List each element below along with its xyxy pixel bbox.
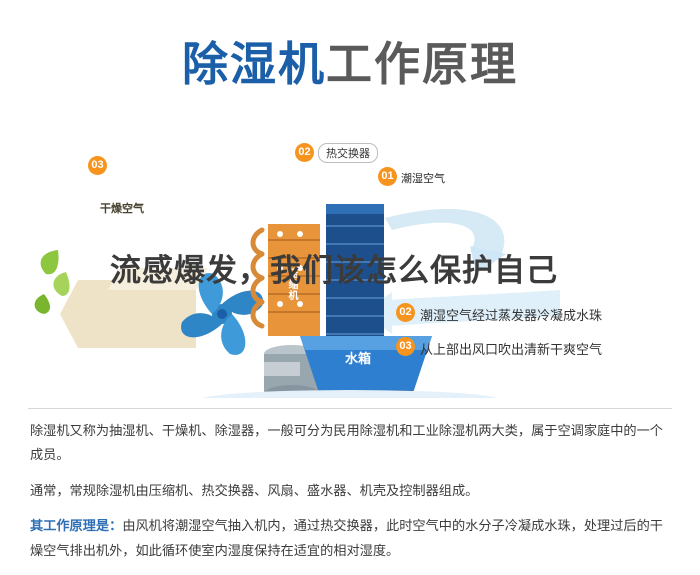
badge-step-03: 03 bbox=[396, 337, 415, 356]
evaporator-top bbox=[326, 204, 384, 214]
badge-step-02: 02 bbox=[396, 303, 415, 322]
label-heat-exchanger: 热交换器 bbox=[318, 143, 378, 163]
section-divider bbox=[28, 408, 672, 409]
body-paragraph-2: 通常，常规除湿机由压缩机、热交换器、风扇、盛水器、机壳及控制器组成。 bbox=[30, 480, 672, 504]
step-text-02: 潮湿空气经过蒸发器冷凝成水珠 bbox=[420, 305, 602, 324]
badge-01: 01 bbox=[378, 167, 397, 186]
tank-support bbox=[264, 362, 300, 376]
badge-02: 02 bbox=[295, 143, 314, 162]
leaf-icon-1 bbox=[41, 250, 59, 274]
label-humid-air: 潮湿空气 bbox=[401, 170, 445, 186]
page-title: 除湿机工作原理 bbox=[0, 28, 700, 108]
step-text-03: 从上部出风口吹出清新干爽空气 bbox=[420, 339, 602, 358]
body-paragraph-3-text: 由风机将潮湿空气抽入机内，通过热交换器，此时空气中的水分子冷凝成水珠，处理过后的… bbox=[30, 519, 663, 558]
body-paragraph-3: 其工作原理是：由风机将潮湿空气抽入机内，通过热交换器，此时空气中的水分子冷凝成水… bbox=[30, 515, 672, 564]
badge-03: 03 bbox=[88, 156, 107, 175]
ground-shadow bbox=[200, 390, 500, 398]
page-title-primary: 除湿机 bbox=[182, 37, 326, 91]
poster-root: 除湿机工作原理 bbox=[0, 0, 700, 566]
leaf-icon-2 bbox=[53, 272, 69, 296]
leaf-icon-3 bbox=[35, 294, 50, 314]
body-text: 除湿机又称为抽湿机、干燥机、除湿器，一般可分为民用除湿机和工业除湿机两大类，属于… bbox=[30, 420, 672, 575]
overlay-headline: 流感爆发，我们该怎么保护自己 bbox=[110, 252, 590, 292]
body-paragraph-3-lead: 其工作原理是： bbox=[30, 519, 122, 534]
label-dry-air: 干燥空气 bbox=[100, 200, 144, 216]
body-paragraph-1: 除湿机又称为抽湿机、干燥机、除湿器，一般可分为民用除湿机和工业除湿机两大类，属于… bbox=[30, 420, 672, 469]
page-title-secondary: 工作原理 bbox=[326, 37, 518, 91]
label-water-tank: 水箱 bbox=[345, 348, 371, 367]
